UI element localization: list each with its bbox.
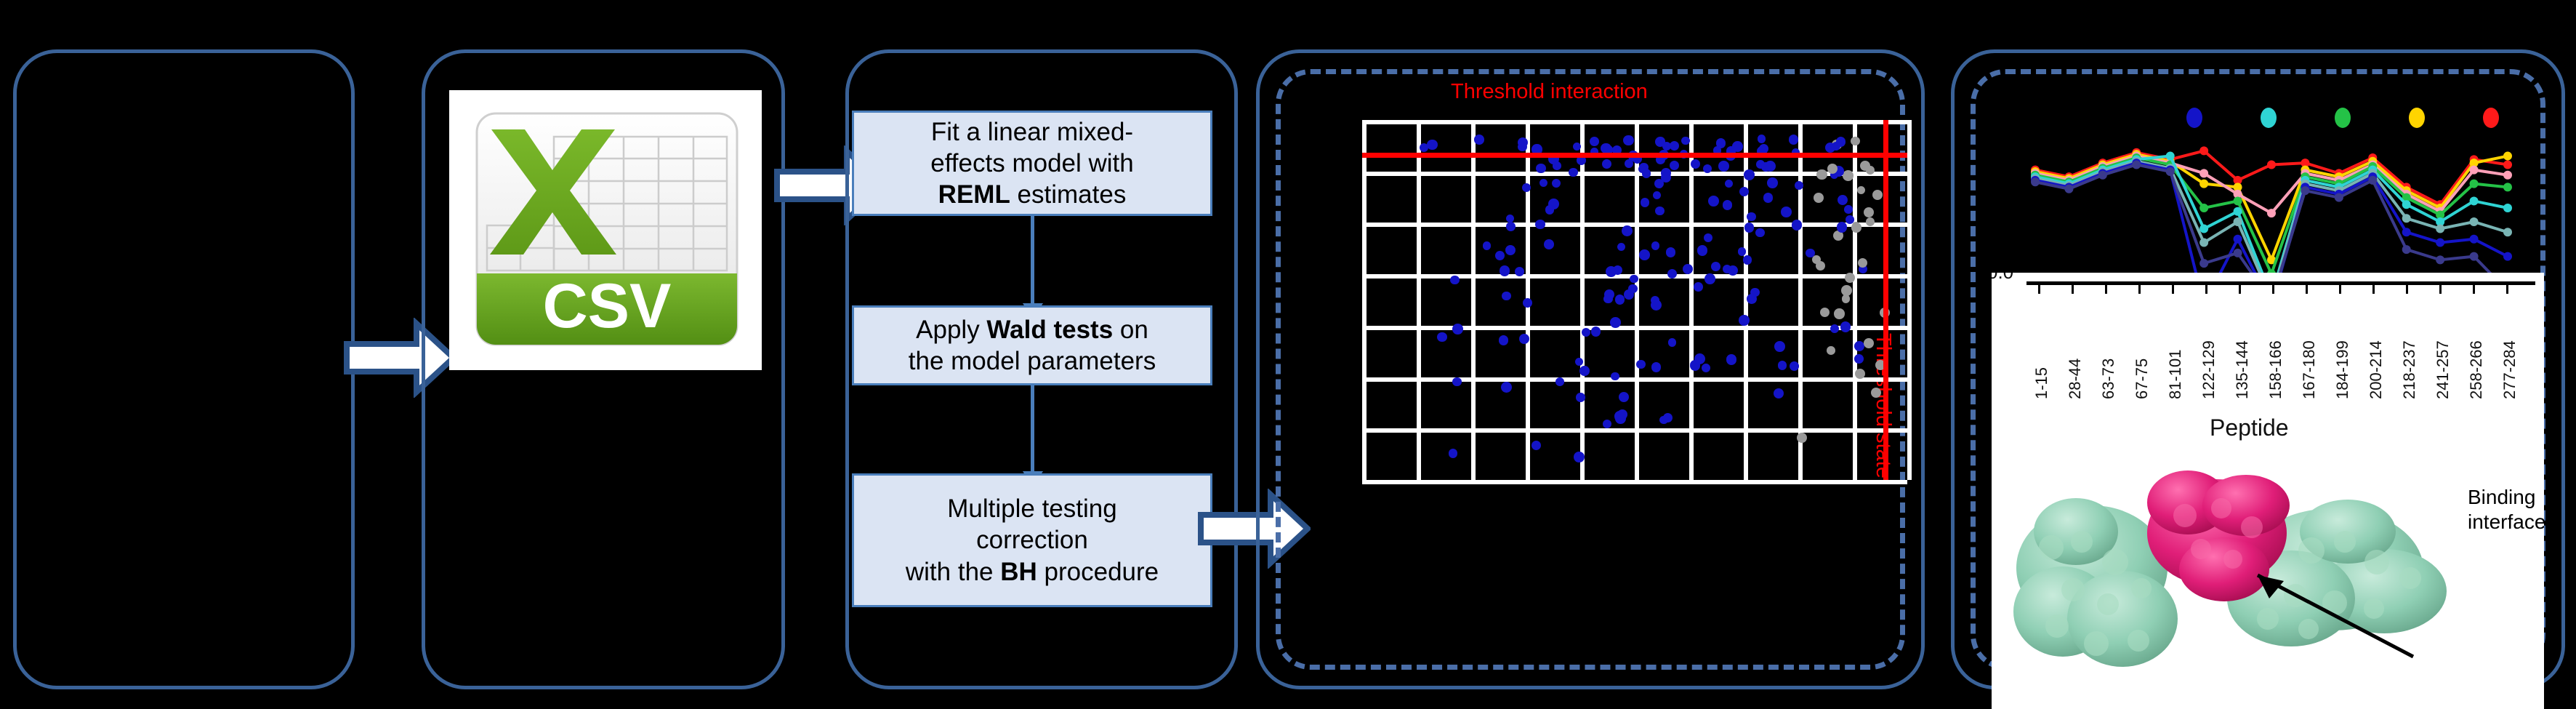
scatter-point-blue bbox=[1718, 161, 1729, 172]
binding-interface-line1: Binding bbox=[2468, 485, 2544, 510]
legend-dot-0[interactable] bbox=[2186, 108, 2202, 128]
scatter-point-blue bbox=[1506, 215, 1514, 223]
scatter-point-blue bbox=[1758, 135, 1766, 143]
grid-hline bbox=[1362, 428, 1907, 433]
scatter-point-blue bbox=[1623, 135, 1634, 146]
scatter-point-blue bbox=[1662, 142, 1671, 151]
grid-hline bbox=[1362, 326, 1907, 330]
line-marker-navy bbox=[2335, 193, 2343, 202]
scatter-point-blue bbox=[1611, 372, 1619, 380]
scatter-point-blue bbox=[1744, 169, 1755, 180]
scatter-point-blue bbox=[1518, 137, 1528, 148]
scatter-point-grey bbox=[1871, 388, 1881, 398]
scatter-point-blue bbox=[1763, 193, 1773, 202]
scatter-point-blue bbox=[1519, 334, 1529, 344]
line-marker-blue bbox=[2436, 239, 2444, 247]
x-tick-mark-8 bbox=[2306, 285, 2308, 294]
scatter-point-blue bbox=[1614, 411, 1625, 422]
step-wald-text: Apply Wald tests onthe model parameters bbox=[909, 314, 1156, 377]
line-marker-teal bbox=[2436, 225, 2444, 233]
x-tick-mark-5 bbox=[2205, 285, 2207, 294]
x-tick-mark-9 bbox=[2339, 285, 2341, 294]
threshold-interaction-label: Threshold interaction bbox=[1451, 80, 1648, 104]
scatter-point-blue bbox=[1837, 222, 1847, 232]
scatter-point-blue bbox=[1500, 265, 1510, 276]
legend-dot-2[interactable] bbox=[2335, 108, 2351, 128]
scatter-point-blue bbox=[1683, 264, 1693, 274]
step-reml-text: Fit a linear mixed-effects model withREM… bbox=[930, 116, 1134, 210]
csv-icon-caption: CSV bbox=[543, 271, 672, 341]
line-marker-navy bbox=[2470, 252, 2479, 261]
scatter-point-blue bbox=[1531, 441, 1541, 450]
scatter-point-grey bbox=[1816, 169, 1827, 180]
scatter-point-blue bbox=[1624, 289, 1634, 300]
scatter-point-blue bbox=[1552, 179, 1561, 188]
scatter-point-grey bbox=[1857, 186, 1865, 194]
scatter-point-blue bbox=[1743, 255, 1752, 265]
scatter-point-grey bbox=[1872, 190, 1883, 200]
scatter-point-grey bbox=[1797, 433, 1807, 443]
line-marker-navy bbox=[2166, 167, 2175, 176]
scatter-point-grey bbox=[1851, 223, 1861, 233]
step-box-reml[interactable]: Fit a linear mixed-effects model withREM… bbox=[852, 111, 1212, 216]
scatter-point-blue bbox=[1544, 239, 1554, 249]
scatter-point-blue bbox=[1590, 137, 1599, 146]
scatter-point-blue bbox=[1555, 377, 1564, 386]
scatter-point-blue bbox=[1765, 161, 1776, 172]
scatter-point-grey bbox=[1842, 295, 1850, 303]
scatter-point-grey bbox=[1851, 137, 1859, 145]
grid-hline bbox=[1362, 223, 1907, 227]
scatter-point-blue bbox=[1840, 321, 1851, 332]
scatter-point-blue bbox=[1569, 168, 1578, 177]
line-marker-teal bbox=[2402, 214, 2411, 223]
line-marker-cyan bbox=[2402, 200, 2411, 209]
scatter-point-blue bbox=[1670, 161, 1679, 170]
scatter-point-grey bbox=[1814, 193, 1824, 203]
scatter-point-blue bbox=[1694, 282, 1703, 292]
line-marker-yellow bbox=[2503, 152, 2512, 161]
scatter-point-grey bbox=[1812, 255, 1821, 264]
line-marker-red bbox=[2503, 160, 2512, 169]
line-marker-red bbox=[2267, 160, 2276, 169]
scatter-point-blue bbox=[1579, 366, 1590, 376]
x-tick-0: 1-15 bbox=[2032, 290, 2051, 399]
scatter-point-blue bbox=[1591, 327, 1601, 337]
scatter-point-grey bbox=[1827, 346, 1835, 355]
scatter-point-blue bbox=[1450, 276, 1459, 284]
line-marker-pink bbox=[2503, 171, 2512, 180]
line-marker-navy bbox=[2301, 186, 2309, 195]
y-tick-label-0: 0.0 bbox=[1992, 273, 2013, 284]
scatter-point-blue bbox=[1501, 382, 1512, 393]
grid-hline bbox=[1362, 377, 1907, 382]
scatter-point-blue bbox=[1732, 141, 1742, 151]
scatter-point-blue bbox=[1778, 361, 1787, 370]
x-axis-line bbox=[2026, 281, 2535, 285]
scatter-point-blue bbox=[1836, 137, 1846, 146]
scatter-point-grey bbox=[1855, 369, 1865, 379]
scatter-point-blue bbox=[1747, 294, 1757, 304]
threshold-interaction-line bbox=[1362, 153, 1907, 158]
scatter-point-blue bbox=[1781, 207, 1792, 217]
line-marker-red bbox=[2199, 146, 2208, 155]
scatter-point-blue bbox=[1774, 341, 1785, 352]
x-tick-mark-14 bbox=[2506, 285, 2508, 294]
x-tick-mark-2 bbox=[2105, 285, 2107, 294]
step-bh-text: Multiple testingcorrectionwith the BH pr… bbox=[906, 493, 1159, 587]
scatter-point-blue bbox=[1790, 361, 1799, 371]
scatter-point-blue bbox=[1697, 245, 1708, 256]
scatter-point-blue bbox=[1576, 393, 1585, 402]
scatter-point-blue bbox=[1603, 295, 1613, 304]
x-tick-8: 167-180 bbox=[2300, 290, 2319, 399]
scatter-point-blue bbox=[1725, 180, 1733, 188]
scatter-point-blue bbox=[1844, 205, 1853, 214]
line-marker-navy bbox=[2064, 185, 2073, 193]
line-marker-blue bbox=[2503, 252, 2512, 261]
scatter-point-blue bbox=[1666, 247, 1676, 257]
scatter-point-blue bbox=[1515, 267, 1524, 276]
line-marker-navy bbox=[2436, 255, 2444, 264]
scatter-point-blue bbox=[1756, 160, 1765, 169]
scatter-point-blue bbox=[1846, 215, 1854, 224]
scatter-point-blue bbox=[1622, 225, 1633, 236]
scatter-point-blue bbox=[1755, 228, 1764, 237]
x-tick-9: 184-199 bbox=[2333, 290, 2352, 399]
line-marker-teal bbox=[2234, 217, 2242, 226]
scatter-point-blue bbox=[1617, 243, 1625, 251]
x-tick-2: 63-73 bbox=[2099, 290, 2118, 399]
scatter-point-blue bbox=[1522, 183, 1531, 192]
line-marker-navy bbox=[2031, 177, 2040, 186]
scatter-point-blue bbox=[1615, 295, 1625, 305]
line-marker-cyan bbox=[2503, 204, 2512, 212]
line-marker-cyan bbox=[2166, 152, 2175, 161]
scatter-point-blue bbox=[1708, 196, 1719, 207]
scatter-point-blue bbox=[1639, 249, 1650, 260]
scatter-point-grey bbox=[1864, 338, 1874, 348]
scatter-point-blue bbox=[1830, 324, 1839, 333]
scatter-point-blue bbox=[1499, 335, 1509, 345]
scatter-point-grey bbox=[1864, 207, 1874, 217]
x-axis-title: Peptide bbox=[2210, 414, 2289, 441]
scatter-point-grey bbox=[1858, 258, 1867, 268]
scatter-point-blue bbox=[1651, 362, 1662, 372]
scatter-point-grey bbox=[1860, 161, 1870, 171]
scatter-point-blue bbox=[1449, 449, 1457, 457]
line-marker-yellow bbox=[2199, 180, 2208, 188]
scatter-point-grey bbox=[1820, 308, 1830, 317]
line-marker-blue bbox=[2402, 228, 2411, 236]
x-tick-mark-10 bbox=[2372, 285, 2375, 294]
scatter-point-blue bbox=[1651, 241, 1659, 249]
protein-structure-image bbox=[2006, 446, 2471, 708]
scatter-point-blue bbox=[1506, 222, 1516, 231]
x-tick-12: 241-257 bbox=[2434, 290, 2452, 399]
x-tick-11: 218-237 bbox=[2400, 290, 2419, 399]
grid-hline bbox=[1362, 120, 1907, 124]
scatter-point-blue bbox=[1774, 388, 1784, 398]
grid-hline bbox=[1362, 480, 1907, 484]
scatter-point-blue bbox=[1505, 245, 1516, 256]
x-tick-6: 135-144 bbox=[2233, 290, 2252, 399]
x-tick-mark-11 bbox=[2406, 285, 2408, 294]
scatter-point-blue bbox=[1427, 140, 1438, 151]
line-marker-navy bbox=[2132, 160, 2141, 169]
x-tick-13: 258-266 bbox=[2467, 290, 2486, 399]
scatter-point-blue bbox=[1747, 212, 1756, 222]
line-marker-teal bbox=[2470, 217, 2479, 226]
scatter-point-blue bbox=[1654, 179, 1664, 188]
scatter-point-blue bbox=[1663, 413, 1673, 422]
x-tick-mark-4 bbox=[2172, 285, 2174, 294]
scatter-point-blue bbox=[1452, 324, 1463, 335]
scatter-point-blue bbox=[1711, 262, 1720, 271]
scatter-point-blue bbox=[1535, 220, 1545, 230]
scatter-point-blue bbox=[1704, 273, 1715, 284]
binding-interface-annotation: Binding interface bbox=[2468, 485, 2544, 534]
x-tick-mark-0 bbox=[2038, 285, 2040, 294]
line-marker-pink bbox=[2267, 209, 2276, 217]
scatter-point-blue bbox=[1726, 354, 1737, 365]
workflow-diagram: CSV Fit a linear mixed-effects model wit… bbox=[0, 0, 2576, 687]
connector-wald-bh bbox=[1031, 385, 1034, 473]
legend-dot-4[interactable] bbox=[2483, 108, 2499, 128]
csv-file-icon: CSV bbox=[472, 109, 741, 349]
line-marker-green bbox=[2470, 180, 2479, 188]
scatter-point-blue bbox=[1610, 317, 1621, 328]
scatter-point-blue bbox=[1738, 247, 1747, 256]
scatter-point-blue bbox=[1767, 177, 1778, 188]
scatter-point-blue bbox=[1495, 251, 1505, 260]
scatter-point-blue bbox=[1630, 275, 1638, 283]
line-marker-cyan bbox=[2199, 225, 2208, 233]
line-marker-green bbox=[2503, 183, 2512, 191]
scatter-point-blue bbox=[1574, 452, 1585, 462]
scatter-point-blue bbox=[1691, 159, 1701, 169]
scatter-point-blue bbox=[1744, 223, 1755, 233]
scatter-point-blue bbox=[1502, 292, 1511, 301]
scatter-point-blue bbox=[1792, 220, 1802, 230]
line-marker-teal bbox=[2199, 239, 2208, 247]
scatter-point-blue bbox=[1854, 354, 1864, 364]
line-marker-cyan bbox=[2470, 196, 2479, 205]
scatter-point-blue bbox=[1806, 249, 1814, 257]
x-tick-mark-1 bbox=[2072, 285, 2074, 294]
panel-input[interactable] bbox=[13, 49, 355, 689]
scatter-plot: Threshold interaction Threshold state bbox=[1256, 49, 1925, 689]
scatter-point-blue bbox=[1704, 233, 1712, 242]
x-tick-5: 122-129 bbox=[2199, 290, 2218, 399]
connector-reml-wald bbox=[1031, 216, 1034, 305]
line-marker-navy bbox=[2234, 249, 2242, 257]
scatter-point-grey bbox=[1827, 164, 1838, 174]
line-marker-navy bbox=[2199, 259, 2208, 268]
line-marker-cyan bbox=[2234, 207, 2242, 216]
threshold-state-line bbox=[1883, 120, 1888, 480]
scatter-point-blue bbox=[1789, 135, 1799, 145]
scatter-point-blue bbox=[1437, 332, 1446, 342]
binding-interface-line2: interface bbox=[2468, 510, 2544, 534]
scatter-point-blue bbox=[1545, 205, 1554, 214]
grid-vline bbox=[1907, 120, 1912, 480]
scatter-point-blue bbox=[1602, 159, 1611, 169]
x-tick-10: 200-214 bbox=[2367, 290, 2386, 399]
x-tick-mark-12 bbox=[2439, 285, 2442, 294]
scatter-point-blue bbox=[1655, 207, 1665, 216]
scatter-point-blue bbox=[1474, 135, 1484, 145]
scatter-point-grey bbox=[1845, 273, 1855, 283]
scatter-point-blue bbox=[1539, 179, 1547, 187]
legend-dot-1[interactable] bbox=[2261, 108, 2277, 128]
x-tick-7: 158-166 bbox=[2266, 290, 2285, 399]
x-tick-14: 277-284 bbox=[2500, 290, 2519, 399]
x-tick-mark-6 bbox=[2239, 285, 2241, 294]
scatter-point-blue bbox=[1619, 392, 1629, 402]
scatter-point-blue bbox=[1694, 353, 1705, 364]
line-marker-navy bbox=[2368, 176, 2377, 185]
step-box-bh[interactable]: Multiple testingcorrectionwith the BH pr… bbox=[852, 473, 1212, 607]
line-marker-pink bbox=[2199, 169, 2208, 177]
line-marker-green bbox=[2234, 196, 2242, 205]
scatter-point-blue bbox=[1636, 360, 1646, 369]
x-tick-mark-13 bbox=[2473, 285, 2475, 294]
legend-dot-3[interactable] bbox=[2409, 108, 2425, 128]
line-marker-green bbox=[2199, 204, 2208, 212]
line-marker-pink bbox=[2470, 166, 2479, 175]
x-tick-mark-7 bbox=[2272, 285, 2274, 294]
results-figure-card: 1-1528-4463-7367-7581-101122-129135-1441… bbox=[1992, 273, 2544, 709]
scatter-point-blue bbox=[1668, 338, 1676, 346]
scatter-point-blue bbox=[1723, 200, 1733, 210]
line-marker-teal bbox=[2503, 228, 2512, 236]
line-marker-navy bbox=[2402, 245, 2411, 254]
x-tick-mark-3 bbox=[2138, 285, 2141, 294]
scatter-point-blue bbox=[1838, 195, 1848, 206]
line-marker-blue bbox=[2470, 235, 2479, 244]
scatter-point-blue bbox=[1603, 420, 1611, 428]
scatter-point-blue bbox=[1523, 298, 1532, 308]
x-tick-1: 28-44 bbox=[2066, 290, 2085, 399]
scatter-point-blue bbox=[1613, 265, 1622, 275]
scatter-grid bbox=[1362, 120, 1907, 480]
scatter-point-grey bbox=[1843, 170, 1853, 181]
scatter-point-blue bbox=[1553, 161, 1561, 170]
scatter-point-grey bbox=[1834, 308, 1844, 319]
step-box-wald[interactable]: Apply Wald tests onthe model parameters bbox=[852, 305, 1212, 385]
scatter-point-blue bbox=[1641, 198, 1650, 207]
x-tick-4: 81-101 bbox=[2166, 290, 2185, 399]
scatter-point-blue bbox=[1420, 143, 1428, 152]
line-marker-blue bbox=[2234, 235, 2242, 244]
scatter-point-blue bbox=[1452, 377, 1462, 387]
line-marker-navy bbox=[2098, 171, 2107, 180]
scatter-point-blue bbox=[1483, 241, 1492, 250]
x-tick-3: 67-75 bbox=[2133, 290, 2152, 399]
scatter-point-blue bbox=[1702, 364, 1710, 372]
scatter-point-blue bbox=[1582, 328, 1590, 337]
scatter-point-blue bbox=[1854, 341, 1864, 351]
scatter-point-blue bbox=[1653, 191, 1662, 200]
scatter-point-blue bbox=[1703, 164, 1712, 173]
